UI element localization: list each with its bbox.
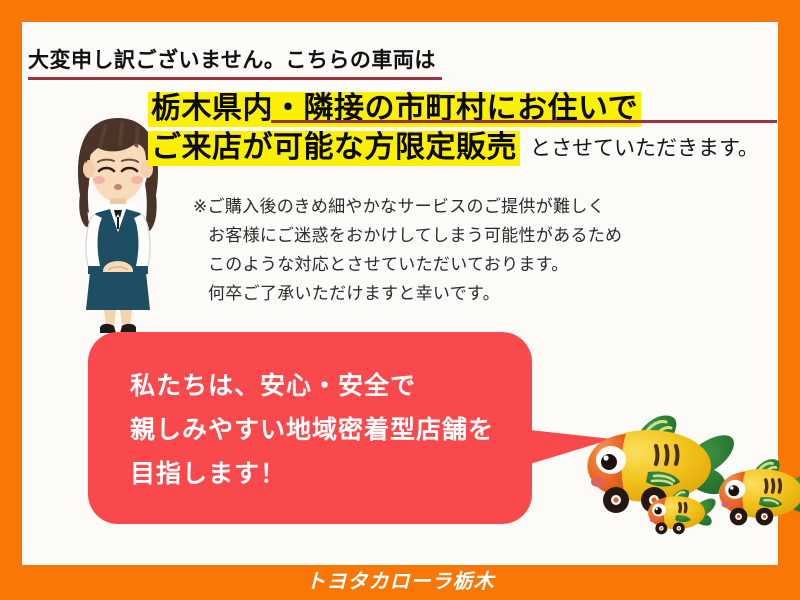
body-line-2: お客様にご迷惑をおかけしてしまう可能性があるため [193, 221, 622, 250]
bubble-line-3: 目指します！ [130, 452, 494, 496]
fish-large [587, 415, 734, 513]
heading-line-2-wrap: ご来店が可能な方限定販売とさせていただきます。 [148, 131, 768, 166]
heading-suffix: とさせていただきます。 [520, 138, 759, 159]
speech-bubble: 私たちは、安心・安全で 親しみやすい地域密着型店舗を 目指します！ [88, 332, 532, 524]
heading-divider [271, 120, 777, 123]
heading-block: 栃木県内・隣接の市町村にお住いで ご来店が可能な方限定販売とさせていただきます。 [148, 92, 768, 170]
wooden-fish-toys-illustration [574, 408, 800, 560]
poster-root: 大変申し訳ございません。こちらの車両は [0, 0, 800, 600]
page-title-block: 大変申し訳ございません。こちらの車両は [28, 44, 442, 80]
bubble-line-2: 親しみやすい地域密着型店舗を [130, 408, 494, 452]
heading-line-2: ご来店が可能な方限定販売 [148, 131, 520, 166]
dealer-logo-text: トヨタカローラ栃木 [0, 565, 800, 600]
white-content-panel: 大変申し訳ございません。こちらの車両は [22, 22, 778, 565]
body-paragraph: ※ご購入後のきめ細やかなサービスのご提供が難しく お客様にご迷惑をおかけしてしま… [193, 192, 622, 308]
fish-medium [719, 459, 800, 525]
bubble-line-1: 私たちは、安心・安全で [130, 364, 494, 408]
body-line-1: ※ご購入後のきめ細やかなサービスのご提供が難しく [193, 192, 622, 221]
speech-bubble-text: 私たちは、安心・安全で 親しみやすい地域密着型店舗を 目指します！ [130, 364, 494, 496]
title-divider [28, 77, 442, 80]
footer-bar: トヨタカローラ栃木 [0, 565, 800, 600]
body-line-3: このような対応とさせていただいております。 [193, 250, 622, 279]
page-title: 大変申し訳ございません。こちらの車両は [28, 44, 442, 74]
body-line-4: 何卒ご了承いただけますと幸いです。 [193, 279, 622, 308]
